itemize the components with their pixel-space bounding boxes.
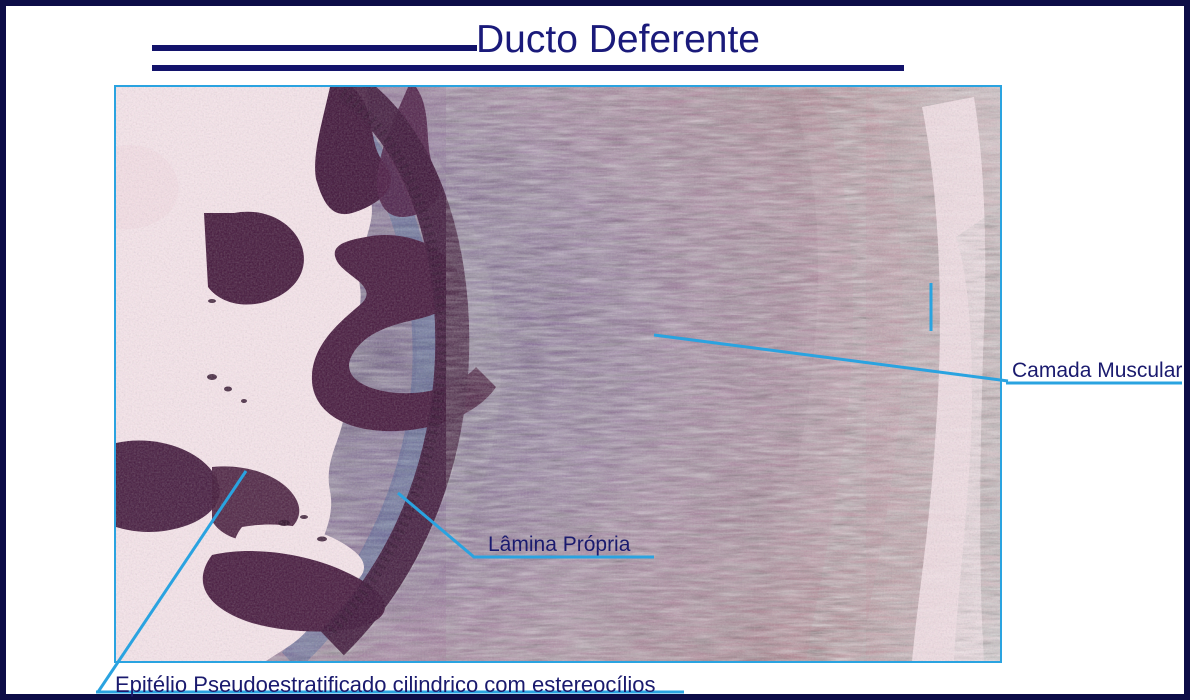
slide-canvas: Ducto Deferente <box>0 0 1190 700</box>
histology-micrograph <box>114 85 1002 663</box>
callout-label-lamina-propria: Lâmina Própria <box>488 532 630 557</box>
callout-label-epitelio: Epitélio Pseudoestratificado cilindrico … <box>115 672 655 698</box>
title-rule-bottom <box>152 65 904 71</box>
callout-label-camada-muscular: Camada Muscular <box>1012 358 1182 383</box>
page-title: Ducto Deferente <box>476 18 760 62</box>
title-rule-left <box>152 45 477 51</box>
micrograph-render <box>116 87 1000 661</box>
title-block: Ducto Deferente <box>6 6 1184 84</box>
